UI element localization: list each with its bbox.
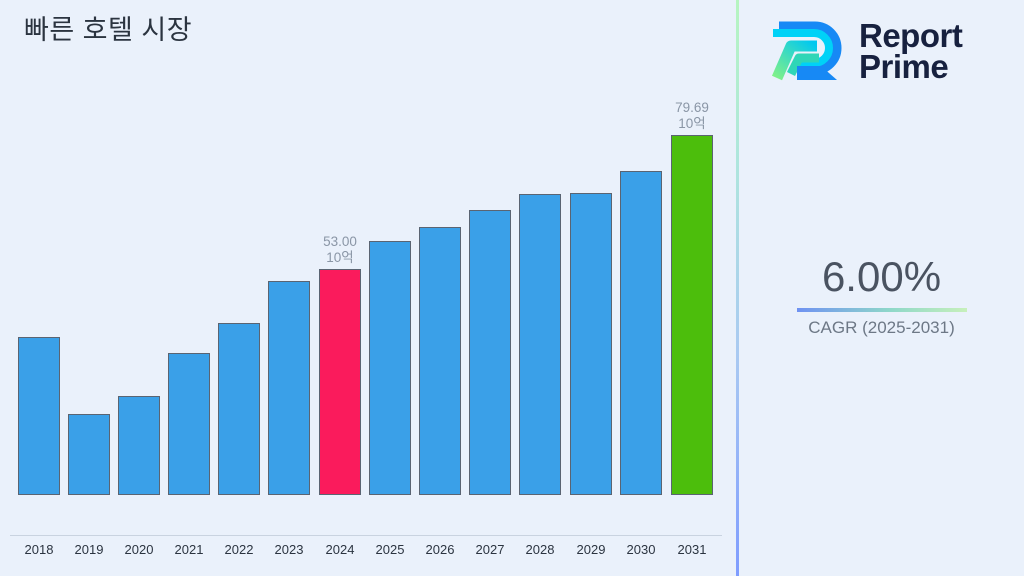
x-axis-line — [10, 535, 722, 536]
bar-2027[interactable] — [469, 210, 511, 495]
x-tick-2029: 2029 — [570, 542, 612, 557]
cagr-value: 6.00% — [739, 252, 1024, 302]
x-tick-2023: 2023 — [268, 542, 310, 557]
bar-2029[interactable] — [570, 193, 612, 495]
bar-2022[interactable] — [218, 323, 260, 495]
x-tick-2019: 2019 — [68, 542, 110, 557]
chart-panel: 빠른 호텔 시장 53.00 10억 — [0, 0, 737, 576]
cagr-divider-rule — [797, 308, 967, 312]
bar-2018[interactable] — [18, 337, 60, 495]
x-tick-2026: 2026 — [419, 542, 461, 557]
x-tick-2025: 2025 — [369, 542, 411, 557]
bar-2023[interactable] — [268, 281, 310, 495]
brand-wordmark-line2: Prime — [859, 51, 962, 82]
x-tick-2018: 2018 — [18, 542, 60, 557]
bar-label-2031: 79.69 10억 — [675, 100, 709, 132]
bar-label-2031-value: 79.69 — [675, 100, 709, 115]
cagr-label: CAGR (2025-2031) — [739, 316, 1024, 340]
brand-wordmark-line1: Report — [859, 20, 962, 51]
bar-2021[interactable] — [168, 353, 210, 495]
bar-2024[interactable] — [319, 269, 361, 495]
bar-2026[interactable] — [419, 227, 461, 495]
bar-2031[interactable] — [671, 135, 713, 495]
brand-logo: Report Prime — [769, 14, 962, 88]
bar-2019[interactable] — [68, 414, 110, 495]
x-tick-2031: 2031 — [671, 542, 713, 557]
cagr-block: 6.00% CAGR (2025-2031) — [739, 252, 1024, 340]
bar-label-2024-value: 53.00 — [323, 234, 357, 249]
x-tick-2021: 2021 — [168, 542, 210, 557]
bar-label-2024: 53.00 10억 — [323, 234, 357, 266]
report-prime-logo-icon — [769, 14, 847, 88]
x-tick-2030: 2030 — [620, 542, 662, 557]
bar-2028[interactable] — [519, 194, 561, 495]
bar-2025[interactable] — [369, 241, 411, 495]
bar-chart-plot-area: 53.00 10억 79.69 — [0, 0, 737, 536]
x-tick-2027: 2027 — [469, 542, 511, 557]
x-tick-2020: 2020 — [118, 542, 160, 557]
x-tick-2022: 2022 — [218, 542, 260, 557]
bar-2030[interactable] — [620, 171, 662, 495]
bar-2020[interactable] — [118, 396, 160, 495]
brand-wordmark: Report Prime — [859, 20, 962, 83]
x-tick-2028: 2028 — [519, 542, 561, 557]
bar-label-2031-unit: 10억 — [678, 116, 705, 131]
bar-label-2024-unit: 10억 — [326, 250, 353, 265]
brand-panel: Report Prime 6.00% CAGR (2025-2031) — [739, 0, 1024, 576]
x-tick-2024: 2024 — [319, 542, 361, 557]
